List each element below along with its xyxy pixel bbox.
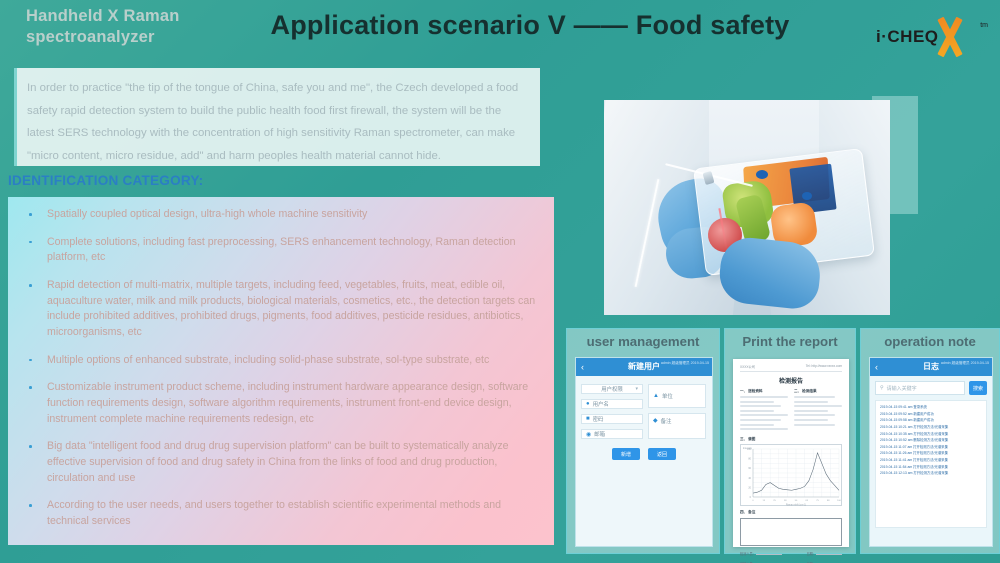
search-icon: ⚲ [880,385,884,391]
panel-print-report: Print the report XXXX公司 Tel: http://www.… [724,328,856,554]
app-header: ‹ 新建用户 admin 超级管理员 2019-04-15 [576,358,712,376]
icheq-logo: i·CHEQ tm [876,16,986,60]
app-header: ‹ 日志 admin 超级管理员 2019-04-15 [870,358,992,376]
svg-text:38: 38 [784,500,787,502]
list-item: Rapid detection of multi-matrix, multipl… [20,278,542,341]
page-title: Application scenario V —— Food safety [250,10,810,41]
search-button[interactable]: 搜索 [969,381,987,395]
search-placeholder: 请输入关键字 [887,385,917,392]
spectrum-svg: 020406080100013253850637588100Raman shif… [741,445,843,507]
doc-header-right: Tel: http://www.xxxxx.com [806,364,842,369]
panel-user-management: user management ‹ 新建用户 admin 超级管理员 2019-… [566,328,720,554]
doc-col-heading: 二、 检测结果 [794,389,842,394]
list-item: 2019-04-15 11:26 am 打开检测方法/光谱采集 [880,450,982,457]
panel-title: user management [567,334,719,349]
mail-icon: ◉ [586,431,591,438]
username-field[interactable]: ● 用户名 [581,399,643,409]
doc-section-remark: 四、 备注 [740,510,842,515]
list-item: Complete solutions, including fast prepr… [20,235,542,266]
svg-text:75: 75 [816,500,819,502]
identification-list-panel: Spatially coupled optical design, ultra-… [8,197,554,545]
doc-col-heading: 一、 送检资料 [740,389,788,394]
panel-title: Print the report [725,334,855,349]
user-icon: ● [586,401,590,407]
chevron-down-icon: ▾ [635,386,638,392]
search-input[interactable]: ⚲ 请输入关键字 [875,381,965,395]
log-list[interactable]: 2019-04-15 09:41 am 登录系统 2019-04-15 09:5… [875,400,987,528]
cancel-button[interactable]: 返回 [648,448,676,460]
list-item: Spatially coupled optical design, ultra-… [20,207,542,223]
report-document: XXXX公司 Tel: http://www.xxxxx.com 检测报告 一、… [733,359,849,547]
logo-tm: tm [980,22,988,29]
app-user-meta: admin 超级管理员 2019-04-15 [661,361,709,365]
svg-text:20: 20 [748,486,751,489]
svg-text:100: 100 [747,448,752,451]
svg-text:63: 63 [806,500,809,502]
password-field[interactable]: ■ 密码 [581,414,643,424]
svg-text:50: 50 [795,500,798,502]
identification-heading: IDENTIFICATION CATEGORY: [8,173,203,188]
svg-text:40: 40 [748,477,751,480]
signature-date-1: 日期： [806,551,842,556]
panel-title: operation note [861,334,999,349]
svg-text:13: 13 [763,500,766,502]
list-item: 2019-04-15 10:52 am 删除检测方法/光谱采集 [880,437,982,444]
list-item: 2019-04-15 11:54 am 打开检测方法/光谱采集 [880,464,982,471]
email-field[interactable]: ◉ 邮箱 [581,429,643,439]
submit-button[interactable]: 新增 [612,448,640,460]
note-icon: ◆ [653,417,658,424]
doc-header-left: XXXX公司 [740,364,755,369]
remark-field[interactable]: ◆ 备注 [648,413,706,440]
log-search-row: ⚲ 请输入关键字 搜索 [870,376,992,400]
svg-text:88: 88 [827,500,830,502]
operation-log-app: ‹ 日志 admin 超级管理员 2019-04-15 ⚲ 请输入关键字 搜索 … [869,357,993,547]
doc-column-left: 一、 送检资料 [740,389,788,433]
svg-text:60: 60 [748,467,751,470]
remark-box [740,518,842,546]
doc-title: 检测报告 [740,376,842,385]
svg-text:80: 80 [748,457,751,460]
doc-column-right: 二、 检测结果 [794,389,842,433]
list-item: 2019-04-15 09:58 am 新建用户成功 [880,417,982,424]
signature-inspector: 检测人员： [740,551,782,556]
list-item: Big data "intelligent food and drug drug… [20,439,542,486]
unit-field[interactable]: ▲ 单位 [648,384,706,408]
screenshot-panels: user management ‹ 新建用户 admin 超级管理员 2019-… [566,328,1000,554]
user-management-app: ‹ 新建用户 admin 超级管理员 2019-04-15 用户权限 ▾ ● [575,357,713,547]
list-item: 2019-04-15 12:13 am 打开检测方法/光谱采集 [880,470,982,477]
list-item: 2019-04-15 09:52 am 新建用户成功 [880,411,982,418]
building-icon: ▲ [653,393,659,399]
slide-root: Handheld X Raman spectroanalyzer Applica… [0,0,1000,563]
list-item: 2019-04-15 10:35 am 打开检测方法/光谱采集 [880,431,982,438]
intro-paragraph: In order to practice "the tip of the ton… [14,68,540,166]
scenario-photo [604,100,890,315]
new-user-form: 用户权限 ▾ ● 用户名 ■ 密码 [576,380,712,464]
spectrum-chart: Intensity 020406080100013253850637588100… [740,444,842,506]
list-item: 2019-04-15 11:07 am 打开检测方法/光谱采集 [880,444,982,451]
svg-text:25: 25 [773,500,776,502]
app-user-meta: admin 超级管理员 2019-04-15 [941,361,989,365]
svg-text:100: 100 [837,500,841,502]
list-item: 2019-04-15 09:41 am 登录系统 [880,404,982,411]
svg-text:0: 0 [750,496,752,499]
list-item: According to the user needs, and users t… [20,498,542,529]
panel-operation-note: operation note ‹ 日志 admin 超级管理员 2019-04-… [860,328,1000,554]
lock-icon: ■ [586,416,590,422]
identification-list: Spatially coupled optical design, ultra-… [20,207,542,530]
logo-wordmark: i·CHEQ [876,27,939,47]
doc-section-chart: 三、 谱图 [740,437,842,442]
list-item: Customizable instrument product scheme, … [20,380,542,427]
brand-title: Handheld X Raman spectroanalyzer [26,6,241,48]
list-item: 2019-04-15 11:41 am 打开检测方法/光谱采集 [880,457,982,464]
list-item: 2019-04-15 10:21 am 打开检测方法/光谱采集 [880,424,982,431]
svg-text:Raman shift (cm-1): Raman shift (cm-1) [786,503,807,506]
list-item: Multiple options of enhanced substrate, … [20,353,542,369]
permission-select[interactable]: 用户权限 ▾ [581,384,643,394]
svg-text:0: 0 [752,500,754,502]
